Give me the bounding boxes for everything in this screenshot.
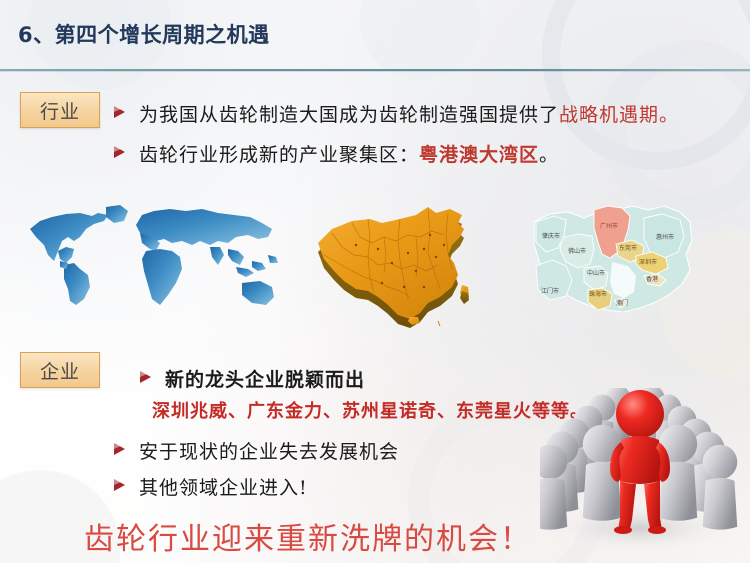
city-label: 东莞市 (619, 246, 637, 252)
bullet-text-suffix: 。 (539, 144, 559, 166)
guangdong-greater-bay-area-map: 肇庆市 广州市 佛山市 东莞市 惠州市 中山市 深圳市 香港 江门市 珠海市 澳… (532, 196, 694, 314)
bullet-enterprise-1: 新的龙头企业脱颖而出 (140, 365, 365, 392)
tag-industry: 行业 (20, 92, 100, 128)
bullet-text-plain: 为我国从齿轮制造大国成为齿轮制造强国提供了 (139, 104, 559, 126)
tag-enterprise: 企业 (20, 352, 100, 388)
slide-canvas: 6、第四个增长周期之机遇 行业 为我国从齿轮制造大国成为齿轮制造强国提供了战略机… (0, 0, 750, 563)
watermark-ring (542, 0, 750, 170)
city-label: 澳门 (616, 301, 628, 307)
city-label: 江门市 (541, 289, 559, 295)
tag-enterprise-label: 企业 (40, 357, 80, 384)
page-title: 6、第四个增长周期之机遇 (18, 19, 270, 49)
arrow-bullet-icon (114, 479, 125, 491)
arrow-bullet-icon (114, 106, 125, 118)
watermark-ring (600, 40, 750, 220)
city-label: 广州市 (600, 224, 618, 230)
title-divider-shadow (0, 71, 750, 72)
bullet-industry-2-text: 齿轮行业形成新的产业聚集区：粤港澳大湾区。 (139, 140, 559, 167)
bullet-text-plain: 齿轮行业形成新的产业聚集区： (139, 144, 419, 166)
city-label: 肇庆市 (542, 234, 560, 240)
city-label: 佛山市 (568, 249, 586, 255)
leader-crowd-illustration (540, 388, 740, 560)
bullet-text-highlight: 粤港澳大湾区 (419, 144, 539, 166)
arrow-bullet-icon (114, 146, 125, 158)
city-label: 香港 (646, 277, 658, 283)
bullet-enterprise-1-text: 新的龙头企业脱颖而出 (165, 365, 365, 392)
gd-map-shapes (532, 196, 694, 314)
bullet-text-highlight: 战略机遇期 (559, 104, 659, 126)
bullet-industry-2: 齿轮行业形成新的产业聚集区：粤港澳大湾区。 (114, 140, 559, 167)
closing-headline: 齿轮行业迎来重新洗牌的机会！ (84, 514, 532, 558)
city-label: 惠州市 (656, 235, 674, 241)
bullet-enterprise-3-text: 其他领域企业进入! (139, 473, 308, 500)
enterprise-company-list: 深圳兆威、广东金力、苏州星诺奇、东莞星火等等。 (152, 397, 589, 423)
bullet-enterprise-3: 其他领域企业进入! (114, 473, 308, 500)
city-label: 中山市 (587, 271, 605, 277)
arrow-bullet-icon (140, 371, 151, 383)
city-label: 深圳市 (639, 260, 657, 266)
bullet-text-suffix: 。 (659, 104, 679, 126)
arrow-bullet-icon (114, 443, 125, 455)
china-map (312, 193, 512, 328)
tag-industry-label: 行业 (40, 97, 80, 124)
world-map (22, 193, 280, 305)
watermark-blob (360, 0, 480, 80)
city-label: 珠海市 (589, 292, 607, 298)
bullet-enterprise-2-text: 安于现状的企业失去发展机会 (139, 437, 399, 464)
bullet-industry-1-text: 为我国从齿轮制造大国成为齿轮制造强国提供了战略机遇期。 (139, 100, 679, 127)
bullet-enterprise-2: 安于现状的企业失去发展机会 (114, 437, 399, 464)
bullet-industry-1: 为我国从齿轮制造大国成为齿轮制造强国提供了战略机遇期。 (114, 100, 679, 127)
